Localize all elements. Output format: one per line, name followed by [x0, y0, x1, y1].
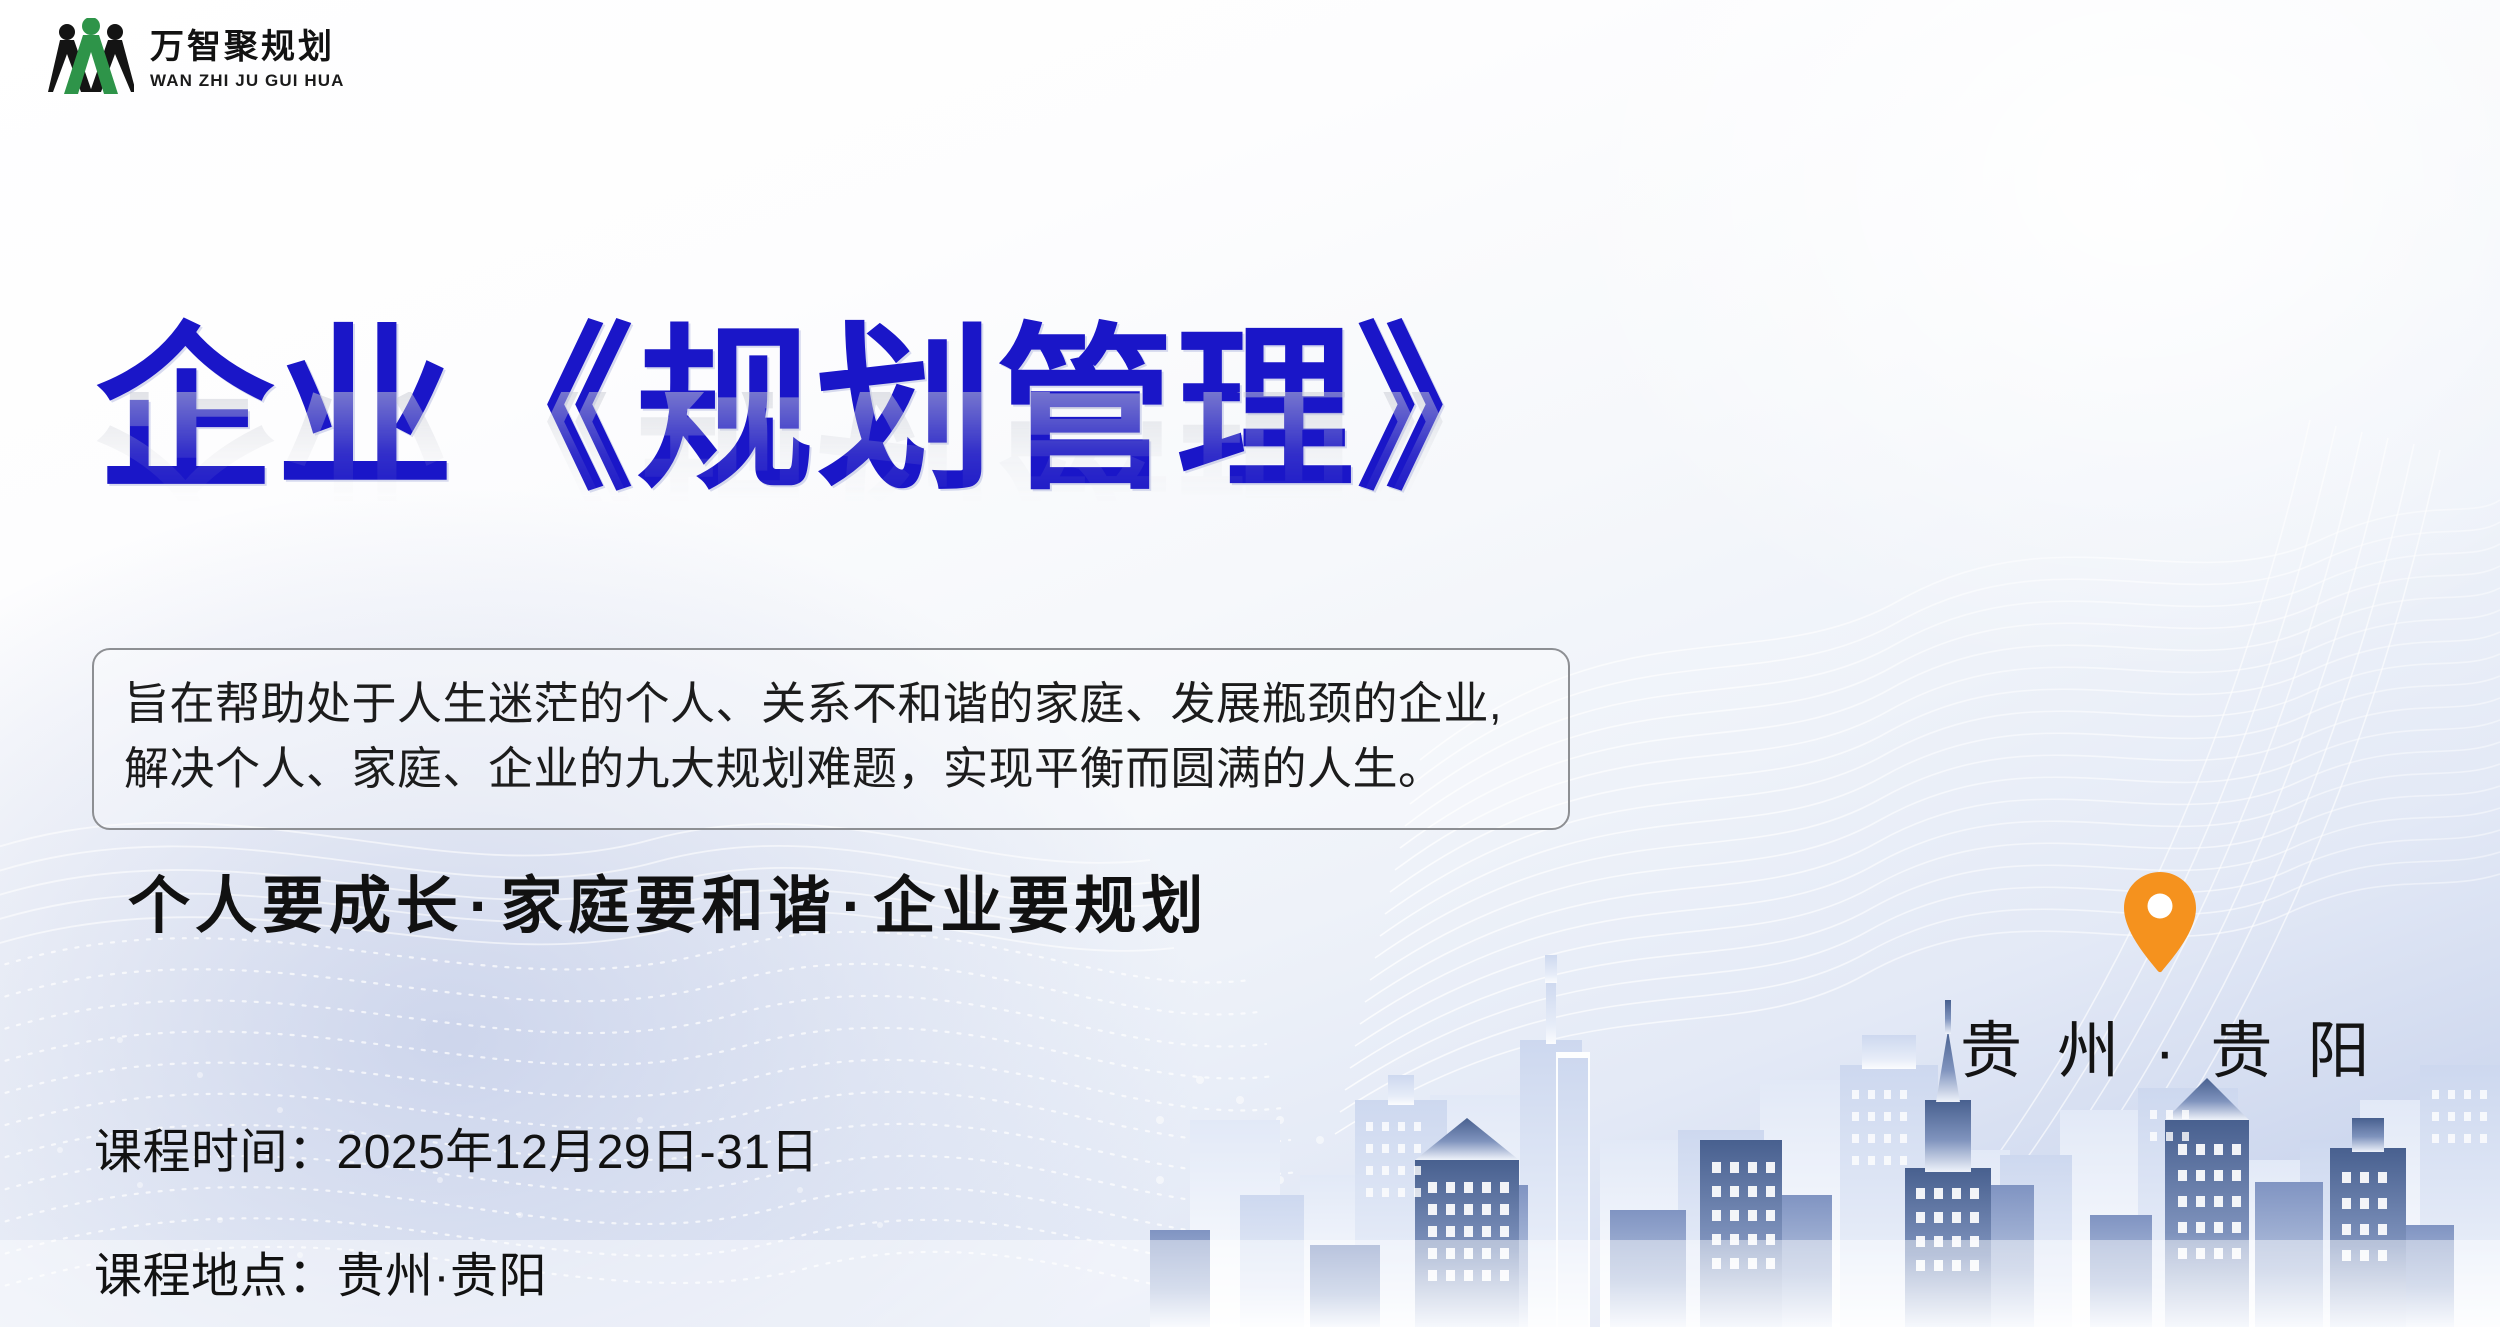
poster-canvas: 万智聚规划 WAN ZHI JU GUI HUA 企业《规划管理》 企业《规划管… [0, 0, 2500, 1327]
slogan-part-2: 家庭要和谐 [501, 872, 836, 941]
course-info-block: 课程时间：2025年12月29日-31日 课程地点：贵州·贵阳 [94, 1112, 819, 1306]
course-place-value: 贵州·贵阳 [337, 1250, 548, 1303]
description-line-2: 解决个人、家庭、企业的九大规划难题，实现平衡而圆满的人生。 [124, 737, 1538, 802]
page-title-reflection: 企业《规划管理》 [96, 392, 1656, 504]
description-line-1: 旨在帮助处于人生迷茫的个人、关系不和谐的家庭、发展瓶颈的企业, [124, 672, 1538, 737]
brand-wordmark: 万智聚规划 WAN ZHI JU GUI HUA [150, 26, 345, 89]
slogan-part-3: 企业要规划 [873, 872, 1208, 941]
slogan-part-1: 个人要成长 [128, 872, 463, 941]
top-right-glow [1540, 0, 2500, 680]
slogan-separator-1: · [463, 872, 501, 941]
course-time-row: 课程时间：2025年12月29日-31日 [94, 1112, 819, 1182]
slogan-separator-2: · [836, 872, 874, 941]
description-box: 旨在帮助处于人生迷茫的个人、关系不和谐的家庭、发展瓶颈的企业, 解决个人、家庭、… [92, 648, 1570, 830]
location-block: 贵 州 · 贵 阳 [1960, 870, 2360, 1090]
three-people-logo-icon [48, 18, 134, 96]
course-place-row: 课程地点：贵州·贵阳 [94, 1236, 819, 1306]
brand-name-pinyin: WAN ZHI JU GUI HUA [150, 72, 345, 89]
course-time-value: 2025年12月29日-31日 [337, 1126, 819, 1179]
hero-title-block: 企业《规划管理》 企业《规划管理》 [96, 322, 1656, 616]
location-name: 贵 州 · 贵 阳 [1960, 1000, 2360, 1090]
map-pin-icon [2121, 870, 2199, 974]
course-place-label: 课程地点： [94, 1250, 337, 1303]
brand-name-cn: 万智聚规划 [150, 30, 345, 64]
course-time-label: 课程时间： [94, 1126, 337, 1179]
brand-logo[interactable]: 万智聚规划 WAN ZHI JU GUI HUA [48, 18, 345, 96]
slogan: 个人要成长·家庭要和谐·企业要规划 [128, 855, 1208, 945]
